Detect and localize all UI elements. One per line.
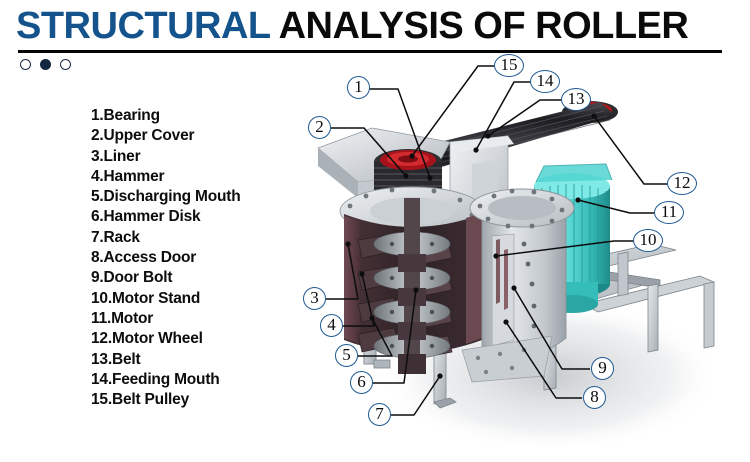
list-item: 5.Discharging Mouth — [91, 187, 306, 207]
list-item: 14.Feeding Mouth — [91, 370, 306, 390]
pager-dot-3[interactable] — [60, 59, 71, 70]
pager-dot-1[interactable] — [20, 59, 31, 70]
list-item: 15.Belt Pulley — [91, 390, 306, 410]
callout-9[interactable]: 9 — [591, 357, 614, 380]
crusher-illustration — [300, 58, 750, 462]
pager-dot-2[interactable] — [40, 59, 51, 70]
page-title-rest: ANALYSIS OF ROLLER — [270, 5, 688, 47]
list-item: 7.Rack — [91, 228, 306, 248]
callout-1[interactable]: 1 — [347, 76, 370, 99]
list-item: 10.Motor Stand — [91, 289, 306, 309]
callout-8[interactable]: 8 — [583, 386, 606, 409]
list-item: 2.Upper Cover — [91, 126, 306, 146]
callout-12[interactable]: 12 — [667, 172, 697, 195]
list-item: 4.Hammer — [91, 167, 306, 187]
machine-diagram: 1 2 3 4 5 6 7 8 9 10 11 12 13 14 15 — [300, 58, 750, 462]
callout-6[interactable]: 6 — [350, 371, 373, 394]
title-divider — [18, 50, 722, 53]
pager-dots[interactable] — [20, 59, 71, 70]
callout-14[interactable]: 14 — [530, 70, 560, 93]
callout-2[interactable]: 2 — [308, 116, 331, 139]
list-item: 11.Motor — [91, 309, 306, 329]
list-item: 1.Bearing — [91, 106, 306, 126]
callout-11[interactable]: 11 — [654, 201, 684, 224]
page-title-highlight: STRUCTURAL — [16, 5, 270, 47]
list-item: 13.Belt — [91, 350, 306, 370]
liner-plate-left — [344, 216, 360, 344]
callout-7[interactable]: 7 — [368, 403, 391, 426]
page-title: STRUCTURAL ANALYSIS OF ROLLER — [16, 4, 688, 48]
parts-legend-list: 1.Bearing 2.Upper Cover 3.Liner 4.Hammer… — [91, 106, 306, 410]
callout-5[interactable]: 5 — [335, 344, 358, 367]
callout-4[interactable]: 4 — [320, 314, 343, 337]
callout-13[interactable]: 13 — [561, 88, 591, 111]
liner-plate-right — [466, 213, 482, 344]
callout-3[interactable]: 3 — [303, 287, 326, 310]
callout-10[interactable]: 10 — [633, 229, 663, 252]
callout-15[interactable]: 15 — [494, 54, 524, 77]
slide-canvas: STRUCTURAL ANALYSIS OF ROLLER 1.Bearing … — [0, 0, 750, 462]
list-item: 12.Motor Wheel — [91, 329, 306, 349]
list-item: 8.Access Door — [91, 248, 306, 268]
list-item: 9.Door Bolt — [91, 268, 306, 288]
list-item: 6.Hammer Disk — [91, 207, 306, 227]
list-item: 3.Liner — [91, 147, 306, 167]
